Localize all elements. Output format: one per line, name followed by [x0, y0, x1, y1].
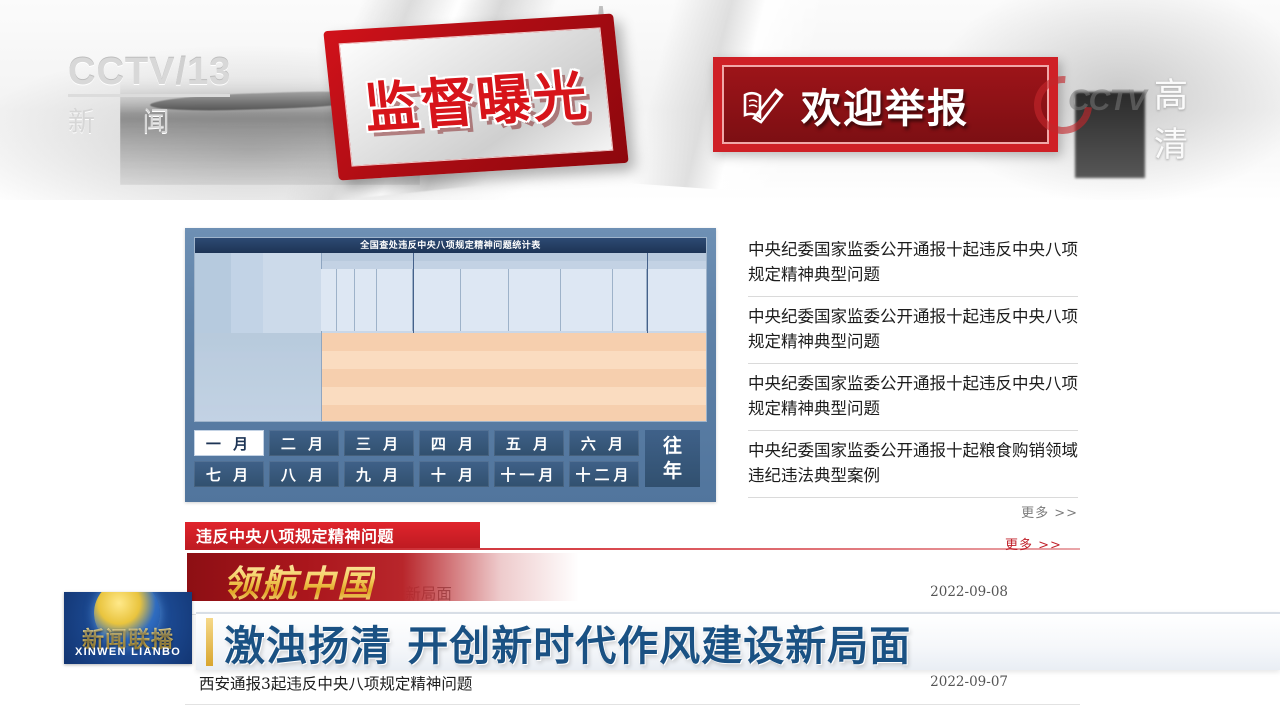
news-title: 中央纪委国家监委公开通报十起违反中央八项规定精神典型问题	[748, 304, 1078, 354]
table-col-h3	[355, 269, 377, 331]
series-title-overlay: 领航中国	[187, 553, 579, 601]
table-col-h5	[413, 269, 461, 331]
news-title: 中央纪委国家监委公开通报十起违反中央八项规定精神典型问题	[748, 371, 1078, 421]
hd-watermark: CCTV 高 清	[1034, 62, 1239, 124]
month-button-10[interactable]: 十 月	[419, 461, 489, 487]
cctv-watermark-subtitle: 新 闻	[68, 100, 238, 139]
supervision-exposure-plaque: 监督曝光	[323, 14, 628, 181]
month-button-grid: 一 月 二 月 三 月 四 月 五 月 六 月 七 月 八 月 九 月 十 月 …	[194, 430, 639, 487]
table-col-h7	[509, 269, 561, 331]
news-more-link[interactable]: 更多 >>	[748, 502, 1078, 521]
program-badge: 新闻联播 XINWEN LIANBO	[64, 592, 192, 664]
previous-years-button[interactable]: 往 年	[645, 430, 700, 487]
table-col-h2	[337, 269, 355, 331]
month-button-1[interactable]: 一 月	[194, 430, 264, 456]
cctv-logo-text: CCTV	[1068, 84, 1146, 118]
statistics-table: 全国查处违反中央八项规定精神问题统计表	[194, 237, 707, 422]
headline-text: 激浊扬清 开创新时代作风建设新局面	[224, 612, 911, 672]
month-button-4[interactable]: 四 月	[419, 430, 489, 456]
statistics-table-title: 全国查处违反中央八项规定精神问题统计表	[195, 238, 706, 253]
section-row-date: 2022-09-07	[930, 674, 1008, 690]
table-col-h10	[647, 269, 707, 331]
table-col-h9	[613, 269, 647, 331]
previous-years-line1: 往	[663, 434, 682, 459]
series-title: 领航中国	[223, 555, 375, 607]
month-button-6[interactable]: 六 月	[569, 430, 639, 456]
list-item[interactable]: 中央纪委国家监委公开通报十起违反中央八项规定精神典型问题	[748, 364, 1078, 431]
section-tag: 违反中央八项规定精神问题	[185, 522, 480, 548]
month-selector: 一 月 二 月 三 月 四 月 五 月 六 月 七 月 八 月 九 月 十 月 …	[194, 430, 707, 487]
month-button-3[interactable]: 三 月	[344, 430, 414, 456]
cctv13-watermark: CCTV/13 新 闻	[68, 52, 238, 142]
news-title: 中央纪委国家监委公开通报十起粮食购销领域违纪违法典型案例	[748, 438, 1078, 488]
section-row-title: 西安通报3起违反中央八项规定精神问题	[199, 672, 472, 694]
row-divider	[185, 704, 1080, 705]
cctv-watermark-rule	[68, 94, 230, 97]
news-title: 中央纪委国家监委公开通报十起违反中央八项规定精神典型问题	[748, 237, 1078, 287]
headline-accent	[206, 618, 213, 666]
statistics-panel: 全国查处违反中央八项规定精神问题统计表	[185, 228, 716, 502]
news-list: 中央纪委国家监委公开通报十起违反中央八项规定精神典型问题 中央纪委国家监委公开通…	[748, 230, 1078, 521]
welcome-report-banner[interactable]: 欢迎举报	[713, 57, 1058, 152]
previous-years-line2: 年	[663, 459, 682, 484]
cctv-watermark-text: CCTV	[68, 51, 175, 93]
masthead: CCTV/13 新 闻 监督曝光 欢迎举报	[0, 0, 1280, 200]
section-tag-label: 违反中央八项规定精神问题	[196, 523, 394, 547]
report-pen-book-icon	[739, 81, 787, 129]
month-button-11[interactable]: 十一月	[494, 461, 564, 487]
cctv-channel-number: 13	[187, 51, 231, 93]
program-badge-en: XINWEN LIANBO	[64, 646, 192, 658]
month-button-8[interactable]: 八 月	[269, 461, 339, 487]
table-col-h1	[321, 269, 337, 331]
month-button-2[interactable]: 二 月	[269, 430, 339, 456]
broadcast-screen: CCTV/13 新 闻 监督曝光 欢迎举报	[0, 0, 1280, 720]
table-row-label-col	[195, 333, 322, 422]
table-col-h4	[377, 269, 413, 331]
report-banner-label: 欢迎举报	[801, 76, 969, 134]
list-item[interactable]: 中央纪委国家监委公开通报十起违反中央八项规定精神典型问题	[748, 297, 1078, 364]
table-col-h8	[561, 269, 613, 331]
statistics-table-grid	[195, 253, 706, 422]
section-more-link[interactable]: 更多 >>	[1005, 534, 1062, 553]
list-item[interactable]: 中央纪委国家监委公开通报十起违反中央八项规定精神典型问题	[748, 230, 1078, 297]
hd-label: 高 清	[1154, 68, 1239, 166]
month-button-5[interactable]: 五 月	[494, 430, 564, 456]
section-row-date: 2022-09-08	[930, 584, 1008, 600]
month-button-9[interactable]: 九 月	[344, 461, 414, 487]
list-item[interactable]: 中央纪委国家监委公开通报十起粮食购销领域违纪违法典型案例	[748, 431, 1078, 498]
month-button-12[interactable]: 十二月	[569, 461, 639, 487]
table-col-h6	[461, 269, 509, 331]
section-divider	[185, 548, 1080, 550]
headline-bar: 激浊扬清 开创新时代作风建设新局面	[196, 612, 1280, 670]
month-button-7[interactable]: 七 月	[194, 461, 264, 487]
